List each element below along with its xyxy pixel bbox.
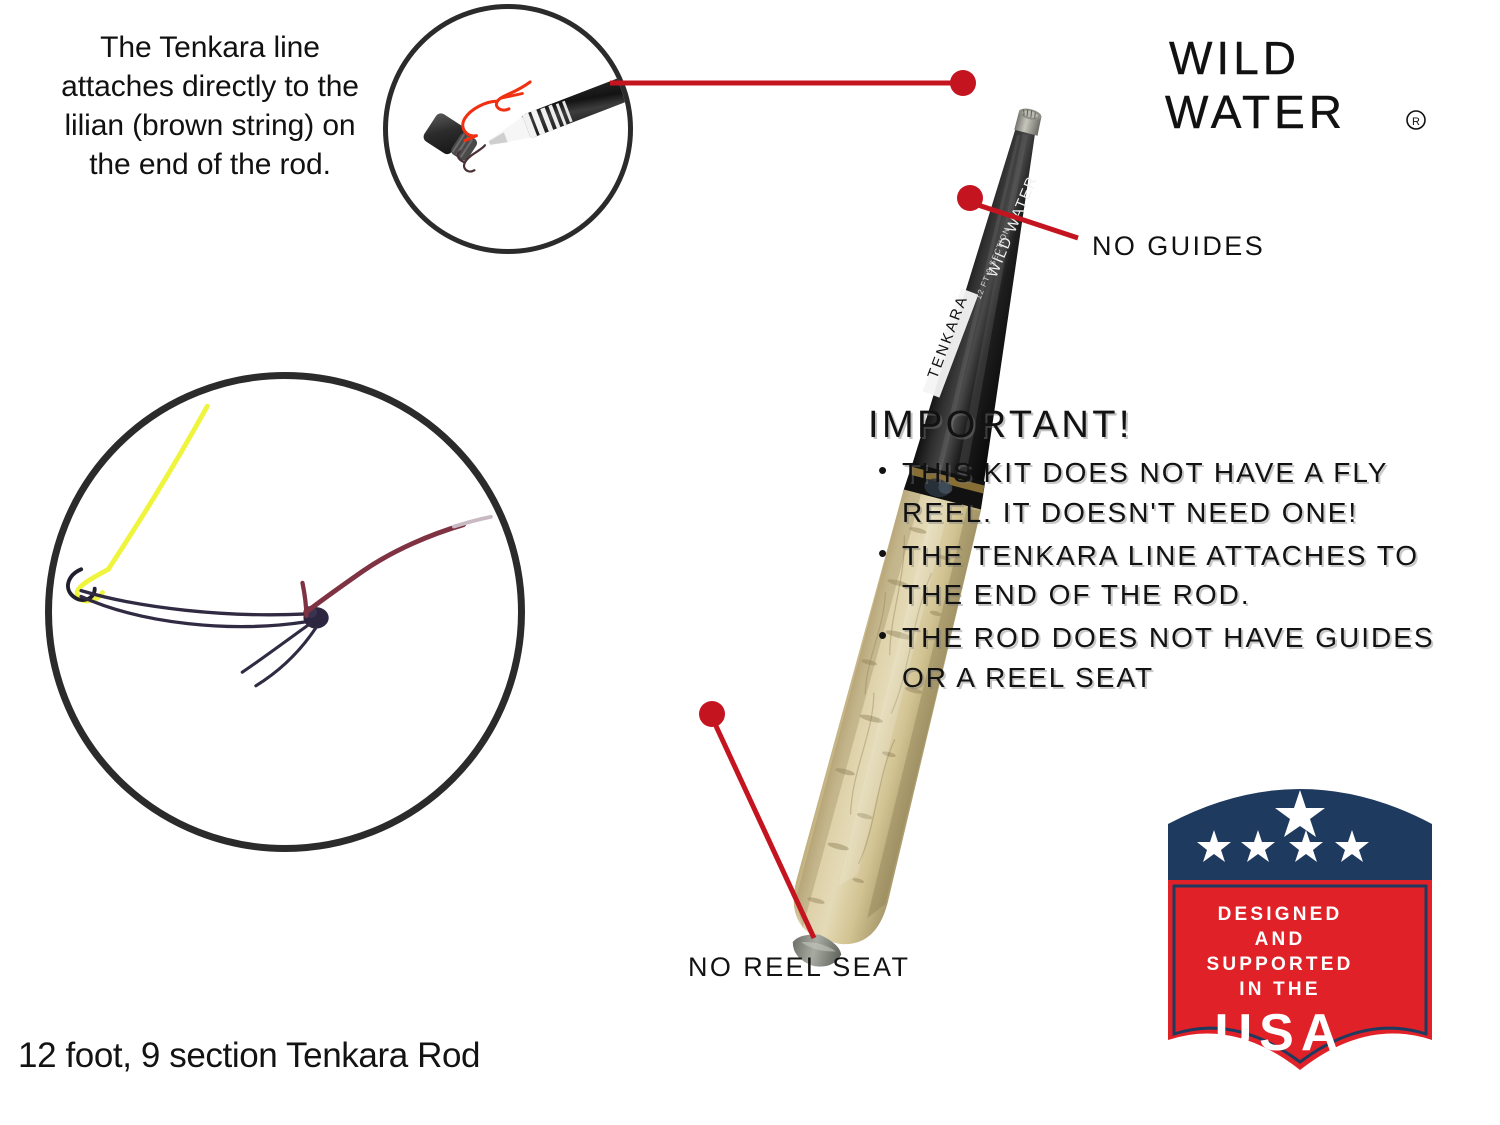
footer-caption: 12 foot, 9 section Tenkara Rod [18,1036,480,1076]
label-no-reel-seat: NO REEL SEAT [688,952,910,983]
label-no-guides: NO GUIDES [1092,231,1265,262]
brand-logo-wild-water: WILD WATER R [1163,30,1443,142]
badge-line-and: AND [1255,929,1306,950]
badge-line-usa: USA [1215,1004,1346,1062]
usa-badge: DESIGNED AND SUPPORTED IN THE USA [1160,768,1440,1088]
badge-line-inthe: IN THE [1239,979,1320,1000]
important-bullet: THIS KIT DOES NOT HAVE A FLY REEL. IT DO… [902,453,1468,533]
badge-line-supported: SUPPORTED [1206,954,1353,975]
leader-line-no-reel-seat [716,726,814,938]
important-bullet: THE TENKARA LINE ATTACHES TO THE END OF … [902,536,1468,616]
svg-text:R: R [1412,116,1420,128]
leader-dot-tip [950,70,976,96]
important-notice-block: IMPORTANT! THIS KIT DOES NOT HAVE A FLY … [868,404,1468,701]
brand-logo-line1: WILD [1169,32,1300,84]
brand-logo-line2: WATER [1165,86,1346,138]
leader-line-no-guides [978,205,1078,238]
infographic-canvas: The Tenkara line attaches directly to th… [0,0,1500,1125]
leader-dot-no-reel-seat [699,701,725,727]
important-bullet: THE ROD DOES NOT HAVE GUIDES OR A REEL S… [902,618,1468,698]
badge-line-designed: DESIGNED [1218,904,1343,925]
important-bullet-list: THIS KIT DOES NOT HAVE A FLY REEL. IT DO… [868,453,1468,698]
important-heading: IMPORTANT! [868,404,1468,447]
